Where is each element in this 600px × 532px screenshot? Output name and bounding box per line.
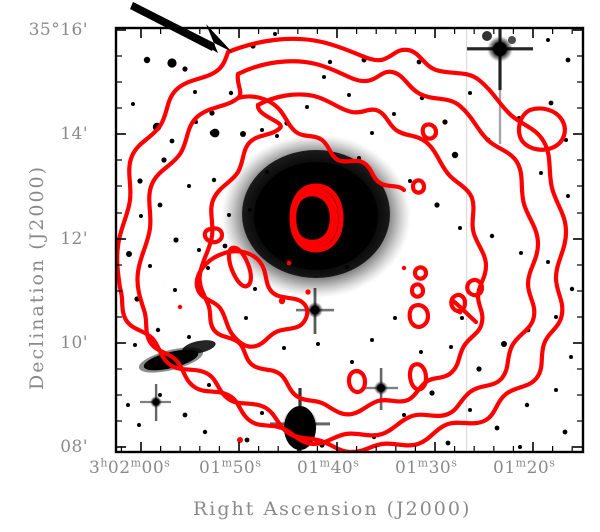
y-tick-label-3: 10' [60, 333, 88, 353]
astronomy-figure [0, 0, 600, 532]
y-tick-label-4: 08' [60, 437, 88, 457]
x-axis-title: Right Ascension (J2000) [193, 498, 471, 520]
x-tick-label-0: 3h02m00s [89, 458, 170, 478]
y-axis-title: Declination (J2000) [26, 165, 48, 390]
y-tick-label-1: 14' [60, 124, 88, 144]
y-tick-label-0: 35°16' [29, 20, 88, 40]
x-tick-label-1: 01m50s [199, 458, 261, 478]
x-tick-label-3: 01m30s [395, 458, 457, 478]
x-tick-label-4: 01m20s [493, 458, 555, 478]
y-tick-label-2: 12' [60, 229, 88, 249]
image-panel [116, 26, 583, 452]
x-tick-label-2: 01m40s [297, 458, 359, 478]
